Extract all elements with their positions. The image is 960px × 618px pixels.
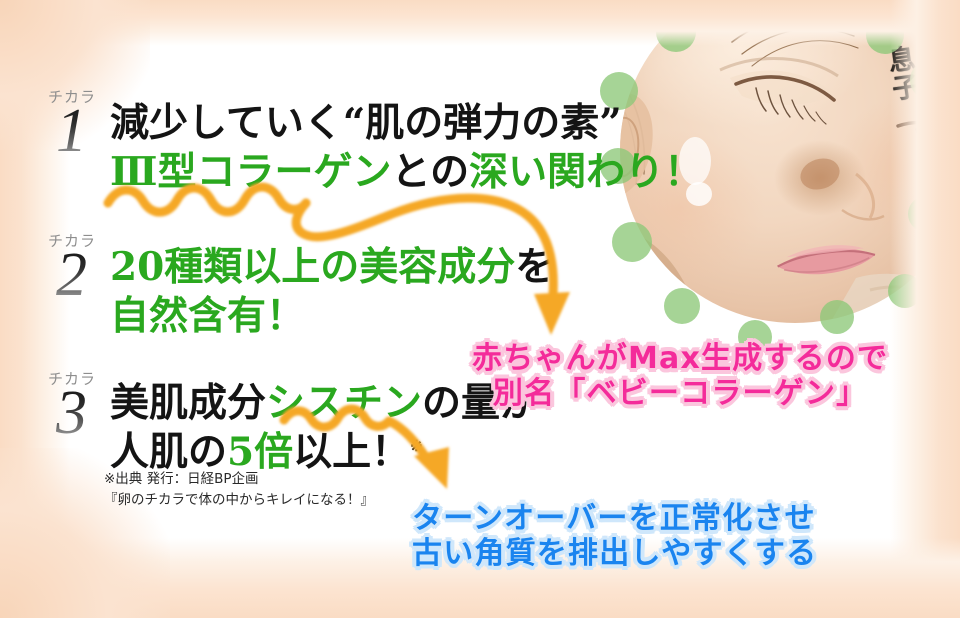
power-2-line-2: 自然含有！ bbox=[110, 285, 305, 341]
callout-pink-line-1: 赤ちゃんがMax生成するので bbox=[472, 341, 888, 376]
callout-pink: 赤ちゃんがMax生成するので 別名「ベビーコラーゲン」 bbox=[472, 341, 888, 412]
footnote-source: ※出典 発行：日経BP企画 『卵のチカラで体の中からキレイになる！』 bbox=[104, 469, 374, 511]
power-1-line-2-green-b: 深い関わり！ bbox=[469, 149, 703, 195]
power-1-line-1: 減少していく“肌の弾力の素” bbox=[110, 92, 622, 148]
green-dot bbox=[608, 0, 634, 16]
green-dot bbox=[820, 300, 854, 334]
green-dot bbox=[908, 196, 944, 232]
green-dot bbox=[656, 12, 696, 52]
footnote-line-1: ※出典 発行：日経BP企画 bbox=[104, 469, 374, 490]
power-1-line-2: Ⅲ型コラーゲンとの深い関わり！ bbox=[110, 141, 703, 197]
green-dot bbox=[910, 60, 950, 100]
callout-blue-line-2: 古い角質を排出しやすくする bbox=[412, 536, 817, 571]
power-2-line-1-green: 20種類以上の美容成分 bbox=[110, 244, 515, 290]
power-3-line-1-black-a: 美肌成分 bbox=[110, 380, 266, 426]
green-dot bbox=[612, 222, 652, 262]
power-1-line-2-green-a: Ⅲ型コラーゲン bbox=[110, 149, 392, 195]
callout-blue: ターンオーバーを正常化させ 古い角質を排出しやすくする bbox=[412, 501, 817, 572]
advertisement-page: 息 子 チカラ 1 減少していく“肌の弾力の素” Ⅲ型コラーゲンとの深い関わり！… bbox=[0, 0, 960, 618]
green-dot bbox=[888, 274, 922, 308]
power-2-line-1-black: を bbox=[515, 244, 554, 290]
footnote-marker: ※ bbox=[410, 437, 423, 455]
green-dot bbox=[930, 126, 960, 156]
chikara-number-1: 1 bbox=[56, 100, 87, 162]
power-3-line-1-green: シスチン bbox=[266, 380, 422, 426]
callout-pink-line-2: 別名「ベビーコラーゲン」 bbox=[472, 376, 888, 411]
power-1-line-2-black: との bbox=[392, 149, 470, 195]
green-dot bbox=[664, 288, 700, 324]
power-2-line-1: 20種類以上の美容成分を bbox=[110, 236, 554, 292]
green-dot bbox=[866, 16, 904, 54]
chikara-number-2: 2 bbox=[56, 244, 87, 306]
callout-blue-line-1: ターンオーバーを正常化させ bbox=[412, 501, 817, 536]
footnote-line-2: 『卵のチカラで体の中からキレイになる！』 bbox=[104, 490, 374, 511]
chikara-number-3: 3 bbox=[56, 382, 87, 444]
